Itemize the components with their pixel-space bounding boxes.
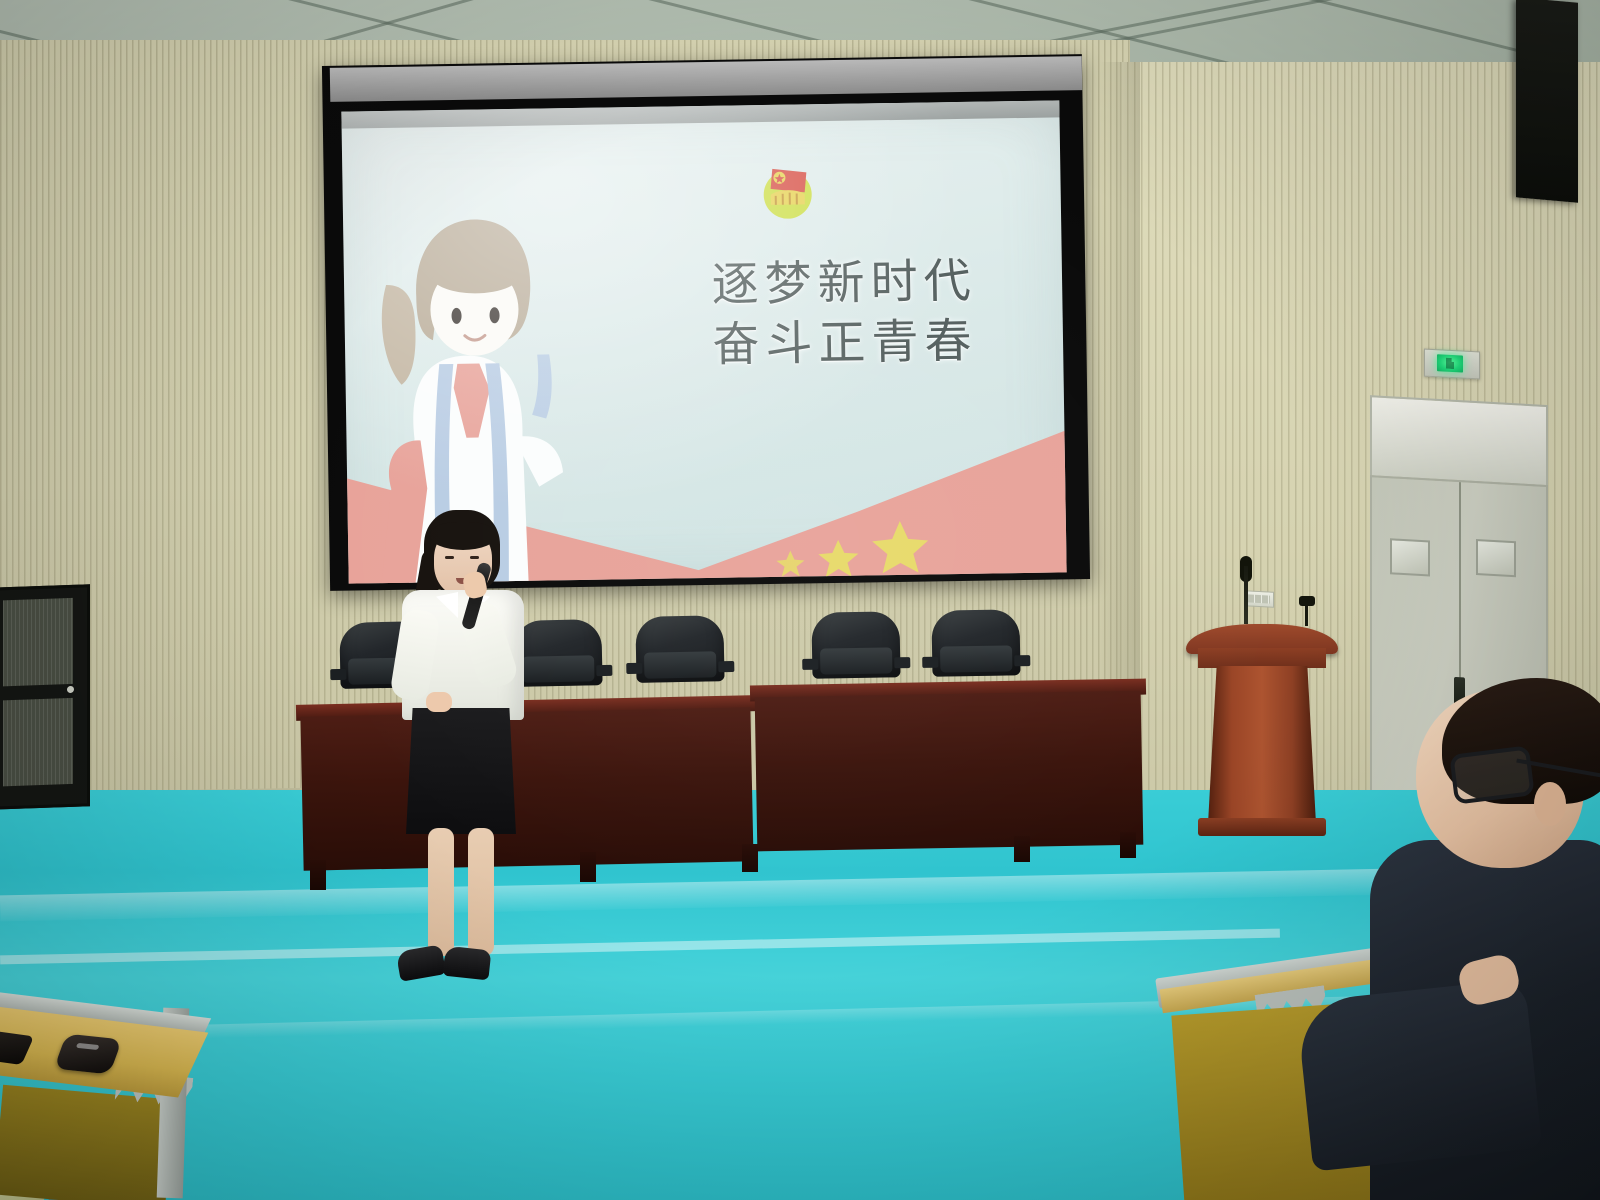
presenter-shoe-right bbox=[443, 946, 492, 981]
light-switch-panel[interactable] bbox=[1244, 590, 1274, 608]
chair-lumbar bbox=[820, 647, 892, 674]
presenter-shoe-left bbox=[396, 944, 447, 982]
audience-arm bbox=[1296, 978, 1543, 1171]
phone-highlight bbox=[76, 1043, 100, 1050]
seated-audience-member[interactable] bbox=[1266, 690, 1600, 1200]
rack-mesh-top bbox=[3, 598, 73, 686]
eyeglasses-icon bbox=[1449, 745, 1534, 804]
chair-lumbar bbox=[644, 651, 716, 678]
foreground-auditorium-seat[interactable] bbox=[0, 1000, 240, 1200]
presenter-leg-left bbox=[428, 828, 454, 956]
table-leg bbox=[742, 844, 758, 872]
conference-chair[interactable] bbox=[803, 611, 908, 685]
conference-chair[interactable] bbox=[923, 609, 1028, 683]
conference-table-right bbox=[755, 691, 1144, 852]
foreground-seat-back bbox=[0, 1085, 174, 1200]
wall-speaker-icon bbox=[1516, 0, 1578, 203]
exit-running-man-icon bbox=[1437, 354, 1463, 372]
emergency-exit-sign bbox=[1424, 349, 1480, 380]
slide-headline-line-1: 逐梦新时代 bbox=[644, 251, 1045, 317]
slide-headline: 逐梦新时代 奋斗正青春 bbox=[644, 251, 1046, 378]
photo-scene: 逐梦新时代 奋斗正青春 bbox=[0, 0, 1600, 1200]
chair-arm-right bbox=[596, 665, 612, 676]
table-leg bbox=[1014, 836, 1030, 862]
chair-lumbar bbox=[940, 645, 1012, 672]
table-leg bbox=[1120, 832, 1136, 858]
rack-lock-icon[interactable] bbox=[67, 686, 74, 693]
door-window-right bbox=[1476, 539, 1516, 577]
microphone-stem bbox=[1244, 566, 1248, 624]
communist-youth-league-emblem-icon bbox=[756, 160, 819, 223]
table-leg bbox=[310, 860, 326, 890]
presenter-leg-right bbox=[468, 828, 494, 956]
table-leg bbox=[580, 852, 596, 882]
chair-arm-left bbox=[802, 659, 818, 670]
chair-arm-right bbox=[894, 657, 910, 668]
rack-mesh-bottom bbox=[3, 698, 73, 786]
presenter-bangs bbox=[430, 522, 496, 550]
chair-arm-left bbox=[626, 663, 642, 674]
equipment-cabinet[interactable] bbox=[0, 584, 90, 809]
presenter-student[interactable] bbox=[384, 510, 544, 1005]
audience-ear bbox=[1534, 782, 1566, 826]
chair-arm-right bbox=[718, 661, 734, 672]
door-window-left bbox=[1390, 538, 1430, 576]
slide-headline-line-2: 奋斗正青春 bbox=[645, 311, 1046, 377]
door-transom-window bbox=[1370, 395, 1548, 487]
chair-arm-left bbox=[330, 669, 346, 680]
conference-chair[interactable] bbox=[627, 615, 732, 689]
chair-arm-left bbox=[922, 657, 938, 668]
presenter-black-skirt bbox=[406, 708, 516, 834]
chair-arm-right bbox=[1014, 655, 1030, 666]
presenter-eye-left bbox=[445, 556, 454, 559]
presenter-hand-left bbox=[426, 692, 452, 712]
presenter-eye-right bbox=[470, 556, 479, 559]
podium-lip bbox=[1198, 648, 1326, 668]
